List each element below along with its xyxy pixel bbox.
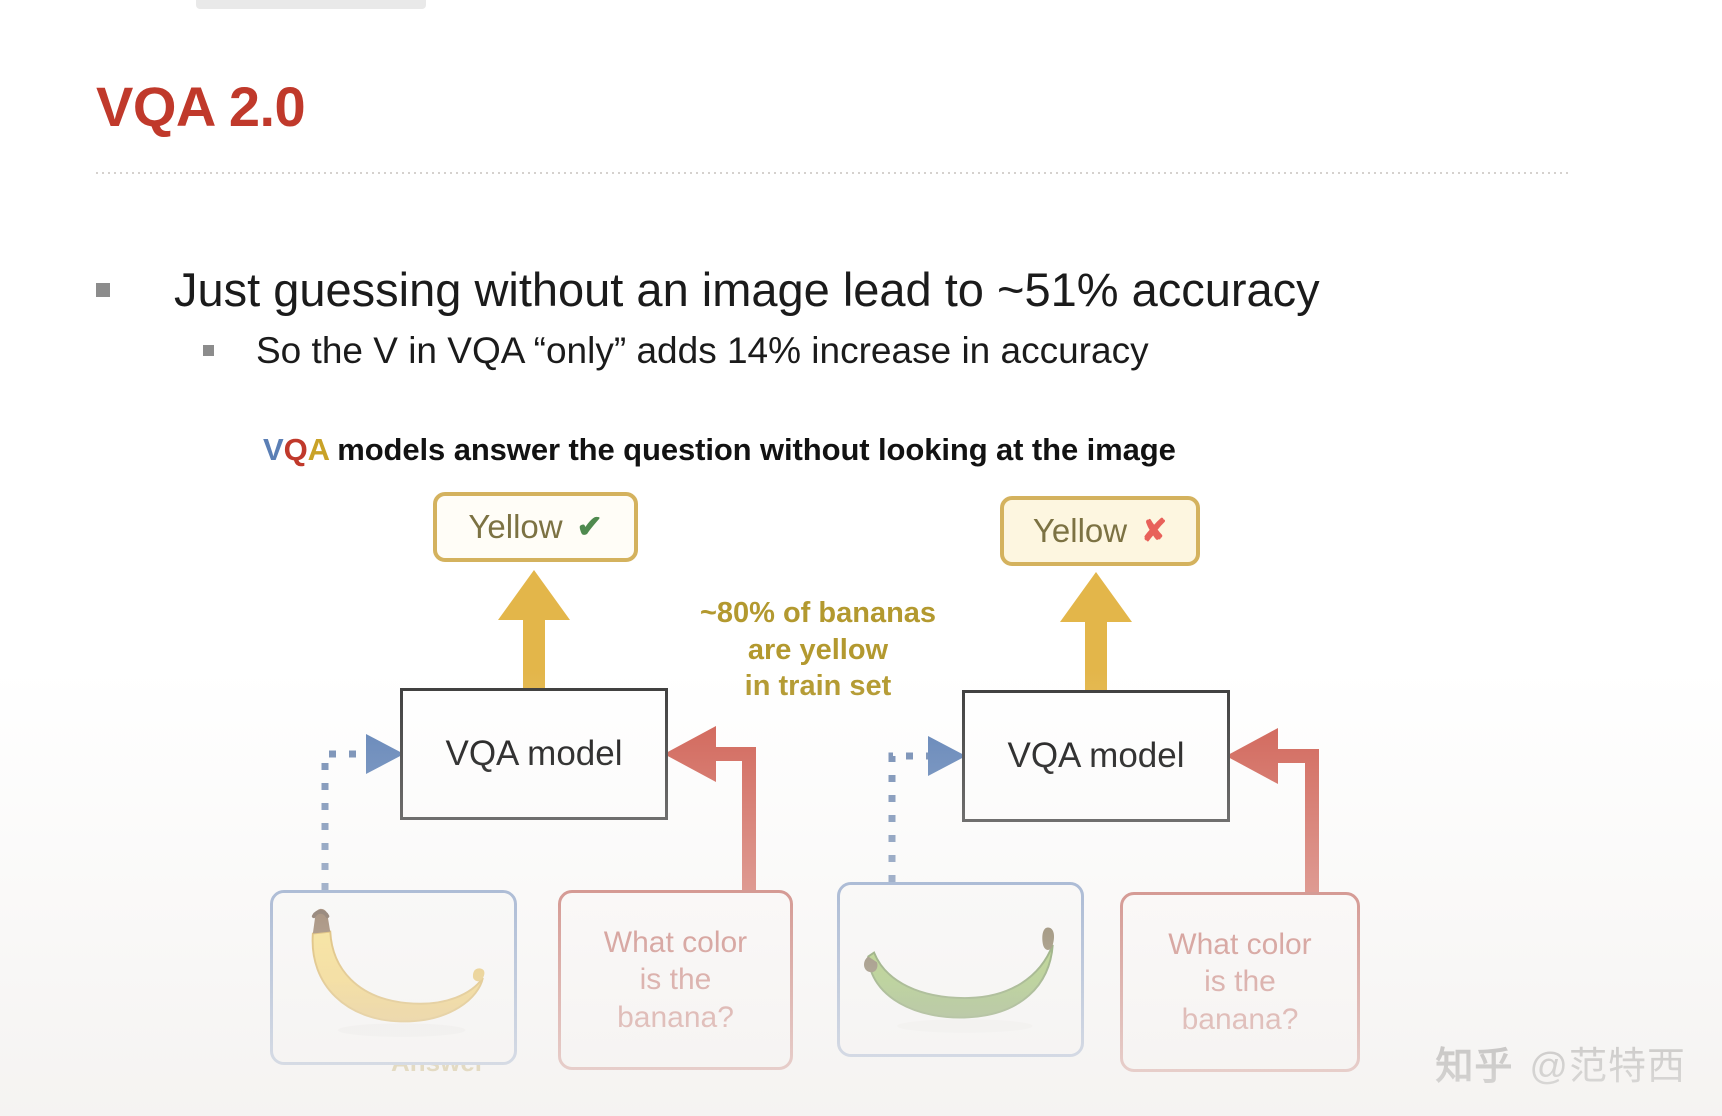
answer-box-left: Yellow ✔ bbox=[433, 492, 638, 562]
question-line: banana? bbox=[604, 999, 747, 1036]
question-box-right: What color is the banana? bbox=[1120, 892, 1360, 1072]
center-annotation-line: ~80% of bananas bbox=[668, 595, 968, 632]
page-title: VQA 2.0 bbox=[96, 74, 305, 139]
question-box-left: What color is the banana? bbox=[558, 890, 793, 1070]
yellow-banana-image bbox=[273, 893, 514, 1062]
top-notch bbox=[196, 0, 426, 9]
bullet-marker-icon bbox=[96, 283, 110, 297]
bullet-marker-icon bbox=[203, 345, 214, 356]
image-frame-right bbox=[837, 882, 1084, 1057]
title-divider bbox=[94, 172, 1569, 174]
question-line: What color bbox=[1168, 926, 1311, 963]
image-arrow-right-icon bbox=[892, 736, 966, 882]
center-annotation-line: in train set bbox=[668, 668, 968, 705]
image-frame-left bbox=[270, 890, 517, 1065]
answer-arrow-left-icon bbox=[498, 570, 570, 690]
answer-box-right: Yellow ✘ bbox=[1000, 496, 1200, 566]
cross-icon: ✘ bbox=[1141, 513, 1167, 549]
question-arrow-left-icon bbox=[664, 726, 749, 890]
center-annotation: ~80% of bananas are yellow in train set bbox=[668, 595, 968, 705]
model-box-right: VQA model bbox=[962, 690, 1230, 822]
answer-text-right: Yellow bbox=[1033, 512, 1127, 550]
bullet-level1-text: Just guessing without an image lead to ~… bbox=[174, 262, 1320, 317]
vqa-figure: VQA models answer the question without l… bbox=[0, 420, 1722, 1020]
question-line: is the bbox=[604, 961, 747, 998]
bullet-level2: So the V in VQA “only” adds 14% increase… bbox=[203, 330, 1149, 372]
slide-canvas: VQA 2.0 Just guessing without an image l… bbox=[0, 0, 1722, 1116]
center-annotation-line: are yellow bbox=[668, 632, 968, 669]
watermark: 知乎 @范特西 bbox=[1435, 1035, 1686, 1090]
question-line: is the bbox=[1168, 963, 1311, 1000]
bullet-level1: Just guessing without an image lead to ~… bbox=[96, 262, 1320, 317]
bullet-level2-text: So the V in VQA “only” adds 14% increase… bbox=[256, 330, 1149, 372]
watermark-site: 知乎 bbox=[1435, 1035, 1513, 1090]
top-strip bbox=[0, 0, 1722, 12]
model-box-left: VQA model bbox=[400, 688, 668, 820]
question-line: What color bbox=[604, 924, 747, 961]
image-arrow-left-icon bbox=[325, 734, 404, 890]
green-banana-image bbox=[840, 885, 1081, 1054]
question-arrow-right-icon bbox=[1226, 728, 1312, 892]
watermark-handle: @范特西 bbox=[1529, 1035, 1686, 1090]
answer-text-left: Yellow bbox=[468, 508, 562, 546]
answer-arrow-right-icon bbox=[1060, 572, 1132, 692]
question-line: banana? bbox=[1168, 1001, 1311, 1038]
check-icon: ✔ bbox=[577, 509, 603, 545]
